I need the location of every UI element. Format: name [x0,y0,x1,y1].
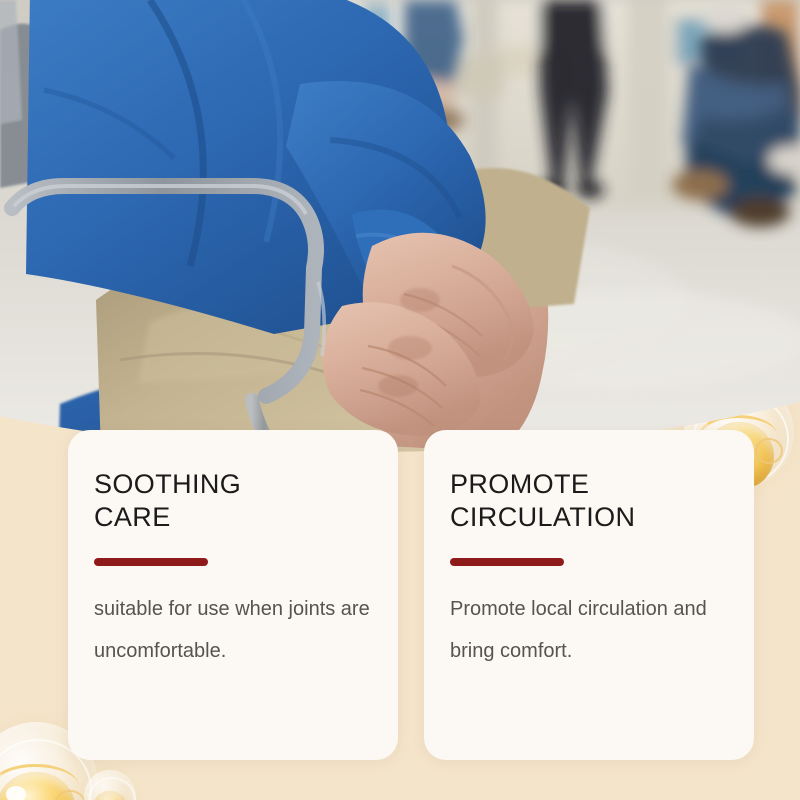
card-title: SOOTHING CARE [94,468,370,534]
card-title: PROMOTE CIRCULATION [450,468,726,534]
card-description: suitable for use when joints are uncomfo… [94,566,370,672]
bubble-highlight [6,786,26,800]
feature-card-soothing-care[interactable]: SOOTHING CARE suitable for use when join… [68,430,398,760]
hero-photo-illustration [0,0,800,452]
promo-poster: SOOTHING CARE suitable for use when join… [0,0,800,800]
card-description: Promote local circulation and bring comf… [450,566,726,672]
hero-photo [0,0,800,452]
feature-card-promote-circulation[interactable]: PROMOTE CIRCULATION Promote local circul… [424,430,754,760]
accent-divider [450,558,564,566]
bubble-small-ring [755,438,783,464]
accent-divider [94,558,208,566]
